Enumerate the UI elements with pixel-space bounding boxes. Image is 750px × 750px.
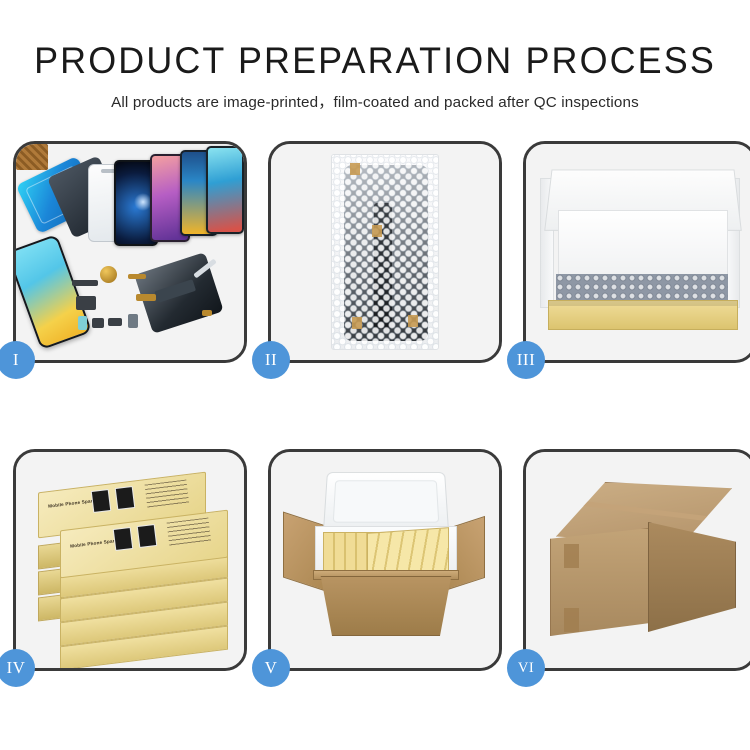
- panel-sealed-carton: VI: [523, 449, 750, 671]
- earpiece-speaker-image: [72, 280, 98, 286]
- panel-image-open-inner-box: [526, 144, 750, 360]
- bubble-layer-image: [556, 274, 728, 302]
- carton-tape-lower-image: [564, 608, 579, 632]
- bubble-wrap-bag-image: [331, 154, 439, 350]
- tape-mark-bottom-right-image: [408, 315, 418, 327]
- copper-shield-image: [16, 144, 48, 170]
- camera-module-image: [100, 266, 117, 283]
- small-part-image: [108, 318, 122, 326]
- box-screen-thumb-2b-image: [137, 524, 158, 548]
- panel-image-sealed-carton: [526, 452, 750, 668]
- vibrator-image: [92, 318, 104, 328]
- panel-badge-2: II: [252, 341, 290, 379]
- stack-side-1-image: [38, 543, 62, 570]
- panel-badge-4: IV: [0, 649, 35, 687]
- phone-parts-scene: [16, 144, 244, 360]
- panel-bubble-wrapped: II: [268, 141, 502, 363]
- bubble-texture-overlay: [332, 155, 438, 349]
- stack-side-2-image: [38, 569, 62, 596]
- phone-front-image: [16, 234, 92, 350]
- tape-mark-top-image: [350, 163, 360, 175]
- inner-box-base-image: [548, 300, 738, 330]
- box-screen-thumb-1a-image: [91, 489, 112, 513]
- box-checklist-1-image: [145, 480, 190, 511]
- carton-front-image: [315, 576, 457, 636]
- panel-badge-6: VI: [507, 649, 545, 687]
- gold-flex-image: [136, 294, 156, 301]
- box-screen-thumb-1b-image: [115, 486, 136, 510]
- panel-image-products-and-parts: [16, 144, 244, 360]
- stack-side-3-image: [38, 595, 62, 622]
- process-step-grid: I II: [13, 141, 740, 671]
- page-subtitle: All products are image-printed，film-coat…: [0, 90, 750, 112]
- header: PRODUCT PREPARATION PROCESS All products…: [0, 42, 750, 112]
- box-stack-image: Mobile Phone Spare Parts Mobile Phone Sp…: [30, 478, 236, 654]
- box-screen-thumb-2a-image: [113, 527, 134, 551]
- tape-mark-bottom-left-image: [352, 317, 362, 329]
- foam-cooler-lid-image: [323, 472, 449, 532]
- panel-badge-5: V: [252, 649, 290, 687]
- battery-chip-image: [78, 316, 87, 330]
- page-title: PRODUCT PREPARATION PROCESS: [11, 42, 739, 81]
- panel-stacked-boxes: Mobile Phone Spare Parts Mobile Phone Sp…: [13, 449, 247, 671]
- panel-image-carton-with-foam: [271, 452, 499, 668]
- panel-image-stacked-boxes: Mobile Phone Spare Parts Mobile Phone Sp…: [16, 452, 244, 668]
- tape-mark-mid-image: [372, 225, 382, 237]
- product-preparation-infographic: PRODUCT PREPARATION PROCESS All products…: [0, 0, 750, 750]
- sim-tray-image: [128, 314, 138, 328]
- box-checklist-2-image: [167, 518, 212, 549]
- sealed-carton-side-image: [648, 522, 736, 632]
- flex-cable-image: [76, 296, 96, 310]
- panel-carton-with-foam: V: [268, 449, 502, 671]
- panel-open-inner-box: III: [523, 141, 750, 363]
- panel-badge-1: I: [0, 341, 35, 379]
- panel-image-bubble-wrapped: [271, 144, 499, 360]
- phone-display-teal-image: [206, 146, 244, 234]
- panel-products-and-parts: I: [13, 141, 247, 363]
- panel-badge-3: III: [507, 341, 545, 379]
- screw-set-image: [202, 310, 212, 316]
- gold-connector-image: [128, 274, 146, 279]
- foam-sheet-image: [558, 210, 728, 280]
- carton-tape-upper-image: [564, 544, 579, 568]
